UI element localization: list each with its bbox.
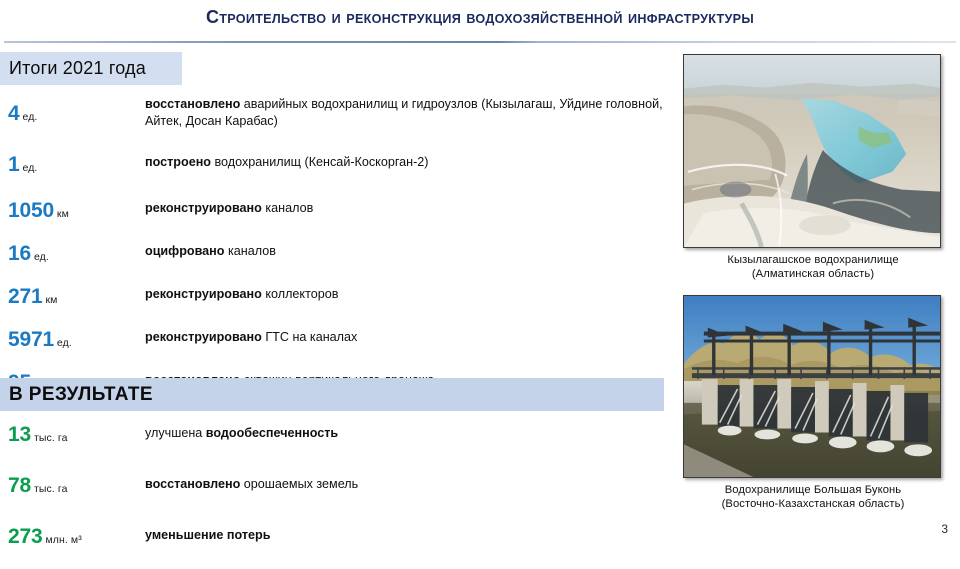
page-title: Строительство и реконструкция водохозяйс… [14,6,945,28]
stat-description: реконструировано каналов [140,196,664,217]
stat-description: восстановлено орошаемых земель [140,471,664,493]
stat-row: 16ед. оцифровано каналов [0,237,664,280]
stat-value: 78тыс. га [0,471,140,496]
section-header-year: Итоги 2021 года [0,52,182,85]
stat-value: 1ед. [0,150,140,175]
stat-unit: ед. [57,337,72,349]
photo-caption-line2: (Восточно-Казахстанская область) [668,497,958,511]
photo-caption-line1: Кызылагашское водохранилище [668,253,958,267]
stat-value: 1050км [0,196,140,221]
sluice-gate-structure-illustration [684,296,940,477]
stat-description-bold: реконструировано [145,287,262,301]
stat-description-bold: восстановлено [145,97,240,111]
stat-description: оцифровано каналов [140,239,664,260]
stat-unit: ед. [34,251,49,263]
stat-description-rest: каналов [262,201,313,215]
stat-description: улучшена водообеспеченность [140,420,664,442]
stat-value: 273млн. м³ [0,522,140,547]
stat-description-bold: водообеспеченность [206,426,338,440]
stat-number: 1050 [8,199,54,222]
stat-description-prefix: улучшена [145,426,206,440]
stat-unit: тыс. га [34,483,68,495]
photo-caption-1: Кызылагашское водохранилище (Алматинская… [668,253,958,282]
photo-caption-2: Водохранилище Большая Буконь (Восточно-К… [668,483,958,512]
stat-unit: млн. м³ [45,534,81,546]
stat-value: 16ед. [0,239,140,264]
stat-row: 1050км реконструировано каналов [0,194,664,237]
stat-description-bold: построено [145,155,211,169]
stat-value: 5971ед. [0,325,140,350]
stat-row: 5971ед. реконструировано ГТС на каналах [0,323,664,366]
stat-number: 1 [8,153,19,176]
stat-description: реконструировано коллекторов [140,282,664,303]
stat-description: реконструировано ГТС на каналах [140,325,664,346]
photo-caption-line2: (Алматинская область) [668,267,958,281]
stat-row: 1ед. построено водохранилищ (Кенсай-Коск… [0,146,664,194]
stat-description: восстановлено аварийных водохранилищ и г… [140,94,664,129]
title-divider [4,41,956,43]
stats-list-results: 13тыс. га улучшена водообеспеченность 78… [0,416,664,569]
stat-description-bold: реконструировано [145,330,262,344]
page-number: 3 [941,522,948,536]
stat-row: 271км реконструировано коллекторов [0,280,664,323]
stat-row: 4ед. восстановлено аварийных водохранили… [0,90,664,146]
section-header-results: В РЕЗУЛЬТАТЕ [0,378,664,411]
stat-description-rest: коллекторов [262,287,339,301]
stat-row: 13тыс. га улучшена водообеспеченность [0,416,664,467]
stat-number: 13 [8,423,31,446]
stat-unit: ед. [22,111,37,123]
stat-value: 13тыс. га [0,420,140,445]
stat-number: 271 [8,285,42,308]
stat-description-rest: водохранилищ (Кенсай-Коскорган-2) [211,155,429,169]
stat-number: 273 [8,525,42,548]
stat-description-bold: оцифровано [145,244,224,258]
stats-list-year: 4ед. восстановлено аварийных водохранили… [0,90,664,408]
content-left-column: Итоги 2021 года 4ед. восстановлено авари… [0,52,664,540]
photo-caption-line1: Водохранилище Большая Буконь [668,483,958,497]
stat-description: построено водохранилищ (Кенсай-Коскорган… [140,150,664,171]
stat-unit: ед. [22,162,37,174]
stat-row: 78тыс. га восстановлено орошаемых земель [0,467,664,518]
stat-value: 4ед. [0,94,140,124]
stat-unit: км [45,294,57,306]
stat-description-rest: каналов [224,244,275,258]
stat-description-rest: орошаемых земель [240,477,358,491]
stat-number: 78 [8,474,31,497]
stat-description-bold: восстановлено [145,477,240,491]
stat-number: 5971 [8,328,54,351]
aerial-reservoir-illustration [684,55,940,247]
stat-unit: км [57,208,69,220]
stat-description-rest: ГТС на каналах [262,330,357,344]
stat-unit: тыс. га [34,432,68,444]
stat-value: 271км [0,282,140,307]
stat-row: 273млн. м³ уменьшение потерь [0,518,664,569]
stat-description-bold: реконструировано [145,201,262,215]
stat-number: 4 [8,102,19,125]
photo-kyzylagash-reservoir [683,54,941,248]
photo-bolshaya-bukon-reservoir [683,295,941,478]
stat-description: уменьшение потерь [140,522,664,544]
stat-number: 16 [8,242,31,265]
